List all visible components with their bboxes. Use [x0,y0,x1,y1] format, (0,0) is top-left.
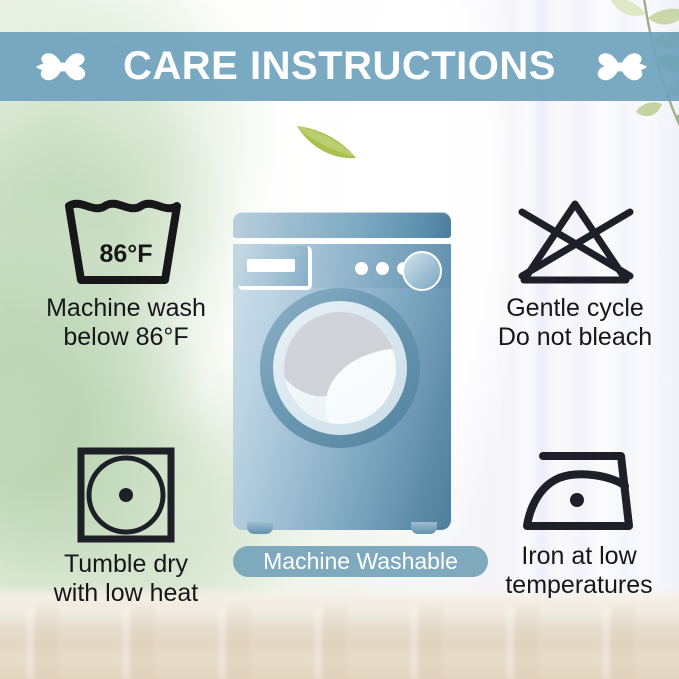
header-banner: CARE INSTRUCTIONS [0,32,679,101]
page-title: CARE INSTRUCTIONS [123,44,556,89]
care-instructions-graphic: CARE INSTRUCTIONS 86°F Machine wash belo… [0,0,679,679]
care-label-machine-wash: Machine wash below 86°F [46,294,206,352]
washing-machine-illustration [233,212,451,530]
fleur-de-lis-icon-right [589,45,651,89]
washer-program-dial [402,251,442,291]
washer-door-ring [273,301,407,435]
care-label-gentle-cycle: Gentle cycle Do not bleach [498,294,652,352]
tumble-dry-low-heat-icon [75,446,177,544]
washer-foot-left [247,522,273,534]
care-label-tumble-dry: Tumble dry with low heat [54,550,199,608]
washer-drawer-slot [247,259,295,272]
washer-door-glass [284,312,396,424]
washer-door [260,288,420,448]
care-item-gentle-cycle: Gentle cycle Do not bleach [480,196,670,352]
wash-temperature-value: 86°F [61,240,191,269]
care-item-tumble-dry: Tumble dry with low heat [22,446,230,608]
washer-indicator-dot-1 [355,262,368,275]
fleur-de-lis-icon-left [32,45,94,89]
washer-detergent-drawer [238,246,312,290]
care-label-iron: Iron at low temperatures [505,542,652,600]
wash-tub-icon: 86°F [61,196,191,288]
washer-indicator-dot-2 [376,262,389,275]
care-item-machine-wash: 86°F Machine wash below 86°F [22,196,230,352]
washer-foot-right [411,522,437,534]
machine-washable-badge: Machine Washable [233,546,488,577]
iron-low-temperature-icon [517,446,641,536]
washer-lid [233,212,451,238]
care-item-iron: Iron at low temperatures [484,446,674,600]
wood-table-surface [0,607,679,679]
machine-washable-badge-text: Machine Washable [263,548,458,575]
triangle-crossed-no-bleach-icon [510,196,640,288]
